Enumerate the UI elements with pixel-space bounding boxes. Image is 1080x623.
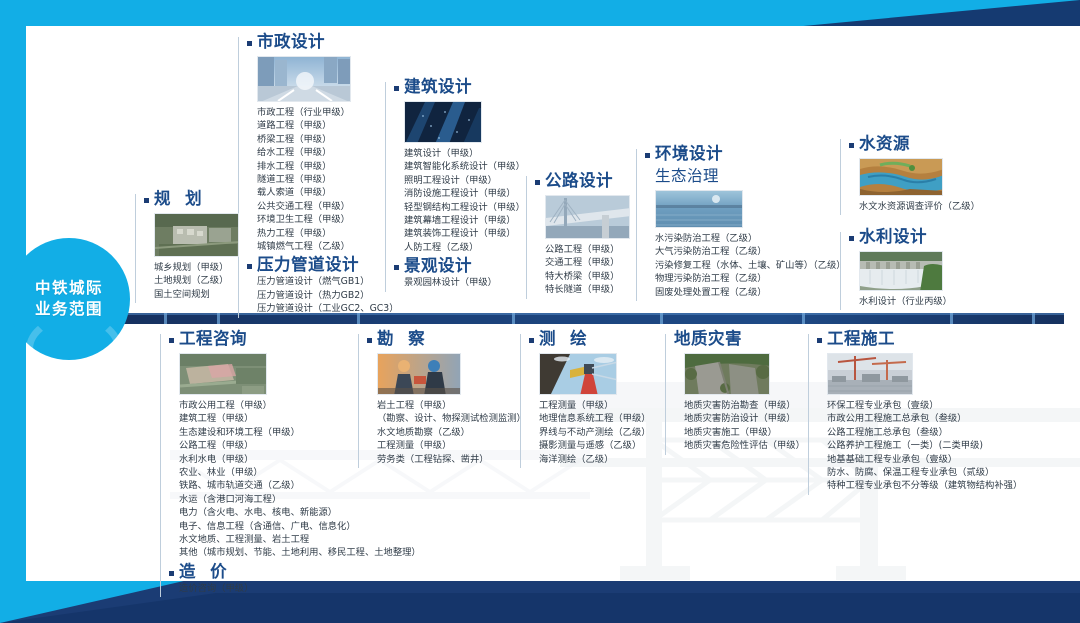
group-item-list: 水污染防治工程（乙级） 大气污染防治工程（乙级） 污染修复工程（水体、土壤、矿山… xyxy=(645,232,826,299)
list-item: 建筑工程（甲级） xyxy=(179,412,370,425)
list-item: 防水、防腐、保温工程专业承包（贰级） xyxy=(827,466,1058,479)
group-thumbnail xyxy=(545,195,630,239)
group-thumbnail xyxy=(257,56,351,102)
group-engineering-construction: 工程施工 环保工程专 xyxy=(808,330,1058,493)
group-title: 勘 察 xyxy=(377,330,430,349)
site-plan-photo-icon xyxy=(180,354,267,395)
group-item-list: 水文水资源调查评价（乙级） xyxy=(849,200,980,213)
group-heading: 工程施工 xyxy=(817,330,1058,349)
cable-bridge-photo-icon xyxy=(546,196,630,239)
group-rule xyxy=(526,176,527,299)
group-engineering-consulting: 工程咨询 市政公用工程（甲级） 建筑工程（甲级） 生态建设和环境工程（甲级） 公… xyxy=(160,330,370,595)
list-item: 市政公用工程施工总承包（叁级） xyxy=(827,412,1058,425)
group-heading: 环境设计 xyxy=(645,145,826,164)
group-environmental-design: 环境设计 生态治理 水污染防治工程（乙级） 大气污染防 xyxy=(636,145,826,299)
badge-line-2: 业务范围 xyxy=(35,299,103,320)
subgroup-heading: 压力管道设计 xyxy=(247,256,388,275)
group-thumbnail xyxy=(859,158,943,196)
bullet-square-icon xyxy=(144,198,149,203)
list-item: 公共交通工程（甲级） xyxy=(257,200,388,213)
bullet-square-icon xyxy=(849,143,854,148)
group-title-secondary: 生态治理 xyxy=(645,164,826,186)
list-item: 工程测量（甲级） xyxy=(377,439,523,452)
group-thumbnail xyxy=(404,101,482,143)
list-item: 铁路、城市轨道交通（乙级） xyxy=(179,479,370,492)
group-title: 工程施工 xyxy=(827,330,895,349)
list-item: 界线与不动产测绘（乙级） xyxy=(539,426,670,439)
list-item: 环境卫生工程（甲级） xyxy=(257,213,388,226)
list-item: 压力管道设计（热力GB2） xyxy=(257,289,388,302)
list-item: （勘察、设计、物探测试检测监测） xyxy=(377,412,523,425)
group-title: 建筑设计 xyxy=(404,78,472,97)
group-title: 地质灾害 xyxy=(674,330,742,349)
list-item: 劳务类（工程钻探、凿井） xyxy=(377,453,523,466)
list-item: 桥梁工程（甲级） xyxy=(257,133,388,146)
list-item: 城镇燃气工程（乙级） xyxy=(257,240,388,253)
group-item-list: 水利设计（行业丙级） xyxy=(849,295,980,308)
list-item: 水文水资源调查评价（乙级） xyxy=(859,200,980,213)
dam-spillway-photo-icon xyxy=(860,252,943,291)
bullet-square-icon xyxy=(817,338,822,343)
list-item: 隧道工程（甲级） xyxy=(257,173,388,186)
group-rule xyxy=(840,232,841,310)
group-rule xyxy=(808,334,809,495)
list-item: 摄影测量与遥感（乙级） xyxy=(539,439,670,452)
list-item: 农业、林业（甲级） xyxy=(179,466,370,479)
list-item: 污染修复工程（水体、土壤、矿山等）（乙级） xyxy=(655,259,826,272)
list-item: 建筑设计（甲级） xyxy=(404,147,535,160)
group-thumbnail xyxy=(827,353,913,395)
infographic-canvas: 中铁城际 业务范围 市政设计 xyxy=(0,0,1080,623)
center-badge: 中铁城际 业务范围 xyxy=(8,238,130,360)
list-item: 市政工程（行业甲级） xyxy=(257,106,388,119)
group-heading: 市政设计 xyxy=(247,33,388,52)
group-rule xyxy=(665,334,666,455)
list-item: 水污染防治工程（乙级） xyxy=(655,232,826,245)
hydrology-map-photo-icon xyxy=(860,159,943,196)
group-heading: 建筑设计 xyxy=(394,78,535,97)
group-heading: 水资源 xyxy=(849,135,980,154)
bullet-square-icon xyxy=(394,86,399,91)
group-planning: 规 划 城乡规划（甲级） 土地规划（乙级） 国土空间规划 xyxy=(135,190,255,301)
group-title: 规 划 xyxy=(154,190,207,209)
bullet-square-icon xyxy=(169,571,174,576)
bullet-square-icon xyxy=(394,265,399,270)
construction-site-photo-icon xyxy=(828,354,913,395)
list-item: 地质灾害施工（甲级） xyxy=(684,426,825,439)
group-geological-hazard: 地质灾害 地质灾害防治勘查（甲级） 地质灾害防治设计（甲级） 地质灾害施工（甲级… xyxy=(665,330,825,453)
group-heading: 水利设计 xyxy=(849,228,980,247)
list-item: 水文地质勘察（乙级） xyxy=(377,426,523,439)
list-item: 热力工程（甲级） xyxy=(257,227,388,240)
bullet-square-icon xyxy=(367,338,372,343)
subgroup-cost-estimation: 造 价 造价咨询（甲级） xyxy=(169,563,370,595)
group-item-list: 地质灾害防治勘查（甲级） 地质灾害防治设计（甲级） 地质灾害施工（甲级） 地质灾… xyxy=(674,399,825,453)
group-rule xyxy=(840,139,841,215)
group-item-list: 工程测量（甲级） 地理信息系统工程（甲级） 界线与不动产测绘（乙级） 摄影测量与… xyxy=(529,399,670,466)
list-item: 海洋测绘（乙级） xyxy=(539,453,670,466)
list-item: 电力（含火电、水电、核电、新能源） xyxy=(179,506,370,519)
total-station-photo-icon xyxy=(540,354,617,395)
aerial-town-photo-icon xyxy=(155,214,239,257)
list-item: 公路工程（甲级） xyxy=(545,243,646,256)
group-thumbnail xyxy=(179,353,267,395)
subgroup-item-list: 压力管道设计（燃气GB1） 压力管道设计（热力GB2） 压力管道设计（工业GC2… xyxy=(247,275,388,315)
badge-swirl-icon xyxy=(26,314,122,360)
group-item-list: 环保工程专业承包（壹级） 市政公用工程施工总承包（叁级） 公路工程施工总承包（叁… xyxy=(817,399,1058,493)
group-rule xyxy=(520,334,521,468)
list-item: 压力管道设计（燃气GB1） xyxy=(257,275,388,288)
list-item: 消防设施工程设计（甲级） xyxy=(404,187,535,200)
list-item: 造价咨询（甲级） xyxy=(179,582,370,595)
subgroup-title: 造 价 xyxy=(179,563,232,582)
list-item: 水利水电（甲级） xyxy=(179,453,370,466)
list-item: 地质灾害危险性评估（甲级） xyxy=(684,439,825,452)
list-item: 载人索道（甲级） xyxy=(257,186,388,199)
blue-architecture-photo-icon xyxy=(405,102,482,143)
group-item-list: 城乡规划（甲级） 土地规划（乙级） 国土空间规划 xyxy=(144,261,255,301)
badge-line-1: 中铁城际 xyxy=(35,278,103,299)
list-item: 环保工程专业承包（壹级） xyxy=(827,399,1058,412)
bullet-square-icon xyxy=(849,236,854,241)
list-item: 物理污染防治工程（乙级） xyxy=(655,272,826,285)
subgroup-title: 景观设计 xyxy=(404,257,472,276)
group-item-list: 市政公用工程（甲级） 建筑工程（甲级） 生态建设和环境工程（甲级） 公路工程（甲… xyxy=(169,399,370,560)
group-item-list: 公路工程（甲级） 交通工程（甲级） 特大桥梁（甲级） 特长隧道（甲级） xyxy=(535,243,646,297)
list-item: 建筑装饰工程设计（甲级） xyxy=(404,227,535,240)
group-highway-design: 公路设计 公路工程（甲级） 交通工程（甲级） 特大桥梁（甲级） xyxy=(526,172,646,297)
list-item: 水利设计（行业丙级） xyxy=(859,295,980,308)
list-item: 排水工程（甲级） xyxy=(257,160,388,173)
list-item: 交通工程（甲级） xyxy=(545,256,646,269)
list-item: 道路工程（甲级） xyxy=(257,119,388,132)
group-water-conservancy-design: 水利设计 水利设计（行业丙级） xyxy=(840,228,980,308)
group-architectural-design: 建筑设计 建筑设计（甲级） 建筑智能化系统设计（甲级） xyxy=(385,78,535,290)
group-title: 水资源 xyxy=(859,135,910,154)
group-item-list: 市政工程（行业甲级） 道路工程（甲级） 桥梁工程（甲级） 给水工程（甲级） 排水… xyxy=(247,106,388,253)
list-item: 地理信息系统工程（甲级） xyxy=(539,412,670,425)
group-municipal-design: 市政设计 市政工程（行业 xyxy=(238,33,388,316)
surveyors-photo-icon xyxy=(378,354,461,395)
list-item: 特大桥梁（甲级） xyxy=(545,270,646,283)
list-item: 国土空间规划 xyxy=(154,288,255,301)
group-item-list: 岩土工程（甲级） （勘察、设计、物探测试检测监测） 水文地质勘察（乙级） 工程测… xyxy=(367,399,523,466)
group-heading: 测 绘 xyxy=(529,330,670,349)
city-road-photo-icon xyxy=(258,57,351,102)
list-item: 建筑智能化系统设计（甲级） xyxy=(404,160,535,173)
list-item: 人防工程（乙级） xyxy=(404,241,535,254)
bullet-square-icon xyxy=(247,41,252,46)
list-item: 公路养护工程施工（一类）(二类甲级) xyxy=(827,439,1058,452)
subgroup-landscape-design: 景观设计 景观园林设计（甲级） xyxy=(394,257,535,289)
subgroup-heading: 造 价 xyxy=(169,563,370,582)
group-title: 环境设计 xyxy=(655,145,723,164)
list-item: 公路工程施工总承包（叁级） xyxy=(827,426,1058,439)
landslide-photo-icon xyxy=(685,354,770,395)
bullet-square-icon xyxy=(535,180,540,185)
subgroup-item-list: 景观园林设计（甲级） xyxy=(394,276,535,289)
group-title: 水利设计 xyxy=(859,228,927,247)
subgroup-item-list: 造价咨询（甲级） xyxy=(169,582,370,595)
list-item: 地质灾害防治勘查（甲级） xyxy=(684,399,825,412)
group-title: 市政设计 xyxy=(257,33,325,52)
group-thumbnail xyxy=(539,353,617,395)
list-item: 生态建设和环境工程（甲级） xyxy=(179,426,370,439)
list-item: 水文地质、工程测量、岩土工程 xyxy=(179,533,370,546)
group-heading: 地质灾害 xyxy=(674,330,825,349)
group-heading: 规 划 xyxy=(144,190,255,209)
list-item: 公路工程（甲级） xyxy=(179,439,370,452)
list-item: 大气污染防治工程（乙级） xyxy=(655,245,826,258)
list-item: 轻型钢结构工程设计（甲级） xyxy=(404,201,535,214)
group-heading: 勘 察 xyxy=(367,330,523,349)
list-item: 建筑幕墙工程设计（甲级） xyxy=(404,214,535,227)
list-item: 特长隧道（甲级） xyxy=(545,283,646,296)
list-item: 固废处理处置工程（乙级） xyxy=(655,286,826,299)
bullet-square-icon xyxy=(645,153,650,158)
group-rule xyxy=(135,194,136,303)
list-item: 岩土工程（甲级） xyxy=(377,399,523,412)
group-item-list: 建筑设计（甲级） 建筑智能化系统设计（甲级） 照明工程设计（甲级） 消防设施工程… xyxy=(394,147,535,254)
group-title: 测 绘 xyxy=(539,330,592,349)
subgroup-pressure-pipeline-design: 压力管道设计 压力管道设计（燃气GB1） 压力管道设计（热力GB2） 压力管道设… xyxy=(247,256,388,315)
group-thumbnail xyxy=(859,251,943,291)
group-water-resources: 水资源 水文水资源调查评价（乙级） xyxy=(840,135,980,213)
group-rule xyxy=(160,334,161,597)
list-item: 其他（城市规划、节能、土地利用、移民工程、土地整理） xyxy=(179,546,370,559)
list-item: 景观园林设计（甲级） xyxy=(404,276,535,289)
list-item: 地质灾害防治设计（甲级） xyxy=(684,412,825,425)
list-item: 市政公用工程（甲级） xyxy=(179,399,370,412)
group-thumbnail xyxy=(377,353,461,395)
list-item: 城乡规划（甲级） xyxy=(154,261,255,274)
list-item: 工程测量（甲级） xyxy=(539,399,670,412)
list-item: 压力管道设计（工业GC2、GC3） xyxy=(257,302,388,315)
bullet-square-icon xyxy=(169,338,174,343)
group-survey: 勘 察 岩土工程（甲级） （勘察、设计、物探测试检测监测） xyxy=(358,330,523,466)
group-thumbnail xyxy=(655,190,743,228)
list-item: 地基基础工程专业承包（壹级） xyxy=(827,453,1058,466)
group-rule xyxy=(385,82,386,292)
group-heading: 公路设计 xyxy=(535,172,646,191)
group-thumbnail xyxy=(154,213,239,257)
lake-water-photo-icon xyxy=(656,191,743,228)
list-item: 土地规划（乙级） xyxy=(154,274,255,287)
group-heading: 工程咨询 xyxy=(169,330,370,349)
group-thumbnail xyxy=(684,353,770,395)
group-title: 公路设计 xyxy=(545,172,613,191)
list-item: 水运（含港口河海工程） xyxy=(179,493,370,506)
list-item: 特种工程专业承包不分等级（建筑物结构补强） xyxy=(827,479,1058,492)
group-rule xyxy=(358,334,359,468)
group-rule xyxy=(636,149,637,301)
list-item: 电子、信息工程（含通信、广电、信息化） xyxy=(179,520,370,533)
list-item: 给水工程（甲级） xyxy=(257,146,388,159)
group-title: 工程咨询 xyxy=(179,330,247,349)
subgroup-heading: 景观设计 xyxy=(394,257,535,276)
group-mapping: 测 绘 工程测量（甲级） 地理信息系统工程（甲级） 界线与不动产测绘（乙级） xyxy=(520,330,670,466)
list-item: 照明工程设计（甲级） xyxy=(404,174,535,187)
bullet-square-icon xyxy=(529,338,534,343)
subgroup-title: 压力管道设计 xyxy=(257,256,359,275)
